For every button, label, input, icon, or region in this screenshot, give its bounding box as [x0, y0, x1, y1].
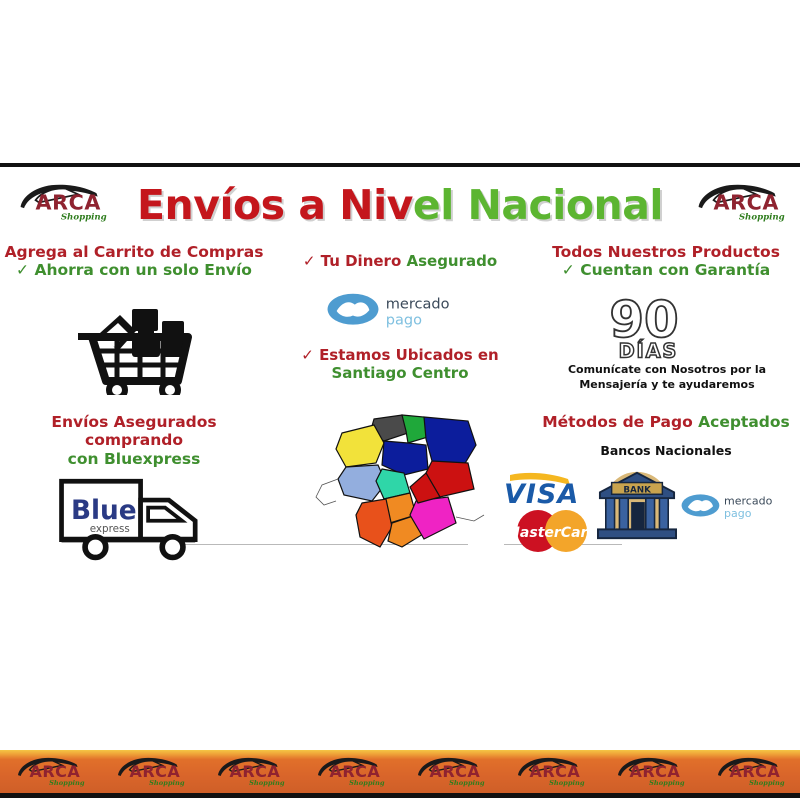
location-benefit-line2: Santiago Centro	[268, 365, 532, 383]
warranty-note: Comunícate con Nosotros por la Mensajerí…	[538, 363, 796, 393]
shopping-cart-icon	[62, 303, 212, 391]
check-icon: ✓	[303, 252, 316, 270]
payment-methods-green: Aceptados	[698, 413, 790, 431]
bluexpress-express-text: express	[90, 523, 130, 535]
banner-header: ARCA Shopping Envíos a Nivel Nacional AR…	[0, 167, 800, 243]
svg-text:ARCA: ARCA	[730, 761, 781, 780]
arca-shopping-logo-footer: ARCAShopping	[207, 752, 293, 792]
warranty-benefit-text: Todos Nuestros Productos ✓ Cuentan con G…	[532, 243, 800, 280]
payment-methods-text: Métodos de Pago Aceptados	[532, 413, 800, 431]
mercadopago-word2: pago	[386, 313, 422, 329]
warranty-days-unit: DÍAS	[619, 339, 679, 362]
page-title: Envíos a Nivel Nacional	[0, 181, 800, 229]
svg-text:ARCA: ARCA	[130, 761, 181, 780]
promo-banner: ARCA Shopping Envíos a Nivel Nacional AR…	[0, 163, 800, 631]
svg-text:ARCA: ARCA	[714, 190, 779, 214]
bluexpress-truck-icon: Blue express	[54, 471, 214, 563]
money-benefit-text: ✓ Tu Dinero Asegurado	[268, 253, 532, 271]
warranty-benefit-line1: Todos Nuestros Productos	[532, 243, 800, 261]
svg-text:Shopping: Shopping	[649, 778, 685, 786]
location-benefit-line1: Estamos Ubicados en	[319, 346, 499, 364]
arca-shopping-logo-footer: ARCAShopping	[407, 752, 493, 792]
svg-text:ARCA: ARCA	[530, 761, 581, 780]
svg-text:Shopping: Shopping	[549, 778, 585, 786]
check-icon: ✓	[16, 261, 29, 279]
svg-text:ARCA: ARCA	[430, 761, 481, 780]
arca-shopping-logo-footer: ARCAShopping	[107, 752, 193, 792]
mercadopago-word1: mercado	[724, 495, 773, 508]
svg-text:Shopping: Shopping	[449, 778, 485, 786]
bank-label: BANK	[623, 485, 652, 495]
svg-text:Shopping: Shopping	[149, 778, 185, 786]
bluexpress-blue-text: Blue	[71, 496, 137, 526]
footer-logo-strip: ARCAShoppingARCAShoppingARCAShoppingARCA…	[0, 750, 800, 798]
banner-body: Agrega al Carrito de Compras ✓ Ahorra co…	[0, 243, 800, 635]
money-benefit-green: Asegurado	[406, 252, 497, 270]
page-title-green: el Nacional	[413, 181, 663, 229]
arca-shopping-logo-footer: ARCAShopping	[607, 752, 693, 792]
svg-text:Shopping: Shopping	[249, 778, 285, 786]
warranty-note-line1: Comunícate con Nosotros por la	[538, 363, 796, 378]
visa-logo: VISA	[504, 479, 579, 510]
warranty-benefit-line2: Cuentan con Garantía	[580, 261, 770, 279]
payment-methods-red: Métodos de Pago	[542, 413, 698, 431]
mastercard-logo: MasterCard	[506, 525, 598, 541]
cart-benefit-line1: Agrega al Carrito de Compras	[0, 243, 268, 261]
svg-text:ARCA: ARCA	[330, 761, 381, 780]
santiago-region-map	[298, 411, 503, 551]
shipping-benefit-line1: Envíos Asegurados comprando	[0, 413, 268, 450]
svg-text:ARCA: ARCA	[630, 761, 681, 780]
svg-text:Shopping: Shopping	[739, 213, 785, 223]
arca-shopping-logo-footer: ARCAShopping	[7, 752, 93, 792]
warranty-note-line2: Mensajería y te ayudaremos	[538, 378, 796, 393]
mercadopago-logo: mercado pago	[323, 291, 483, 331]
svg-text:Shopping: Shopping	[349, 778, 385, 786]
promo-banner-page: ARCA Shopping Envíos a Nivel Nacional AR…	[0, 0, 800, 800]
svg-text:Shopping: Shopping	[49, 778, 85, 786]
check-icon: ✓	[301, 346, 314, 364]
warranty-days-badge: 90 DÍAS	[602, 291, 722, 363]
check-icon: ✓	[562, 261, 575, 279]
mercadopago-logo-payment: mercado pago	[680, 489, 798, 525]
shipping-benefit-line2: con Bluexpress	[0, 450, 268, 468]
mercadopago-word1: mercado	[386, 296, 450, 312]
arca-shopping-logo-footer: ARCAShopping	[507, 752, 593, 792]
page-title-red: Envíos a Niv	[137, 181, 413, 229]
arca-shopping-logo-footer: ARCAShopping	[707, 752, 793, 792]
cart-benefit-text: Agrega al Carrito de Compras ✓ Ahorra co…	[0, 243, 268, 280]
arca-shopping-logo-right: ARCA Shopping	[694, 177, 786, 229]
banks-label: Bancos Nacionales	[532, 443, 800, 458]
svg-text:Shopping: Shopping	[749, 778, 785, 786]
mercadopago-word2: pago	[724, 507, 752, 520]
location-benefit-text: ✓ Estamos Ubicados en Santiago Centro	[268, 347, 532, 382]
shipping-benefit-text: Envíos Asegurados comprando con Bluexpre…	[0, 413, 268, 468]
bank-icon: BANK	[594, 465, 680, 545]
money-benefit-red: Tu Dinero	[321, 252, 407, 270]
cart-benefit-line2: Ahorra con un solo Envío	[34, 261, 251, 279]
arca-shopping-logo-footer: ARCAShopping	[307, 752, 393, 792]
svg-text:ARCA: ARCA	[230, 761, 281, 780]
svg-text:ARCA: ARCA	[30, 761, 81, 780]
